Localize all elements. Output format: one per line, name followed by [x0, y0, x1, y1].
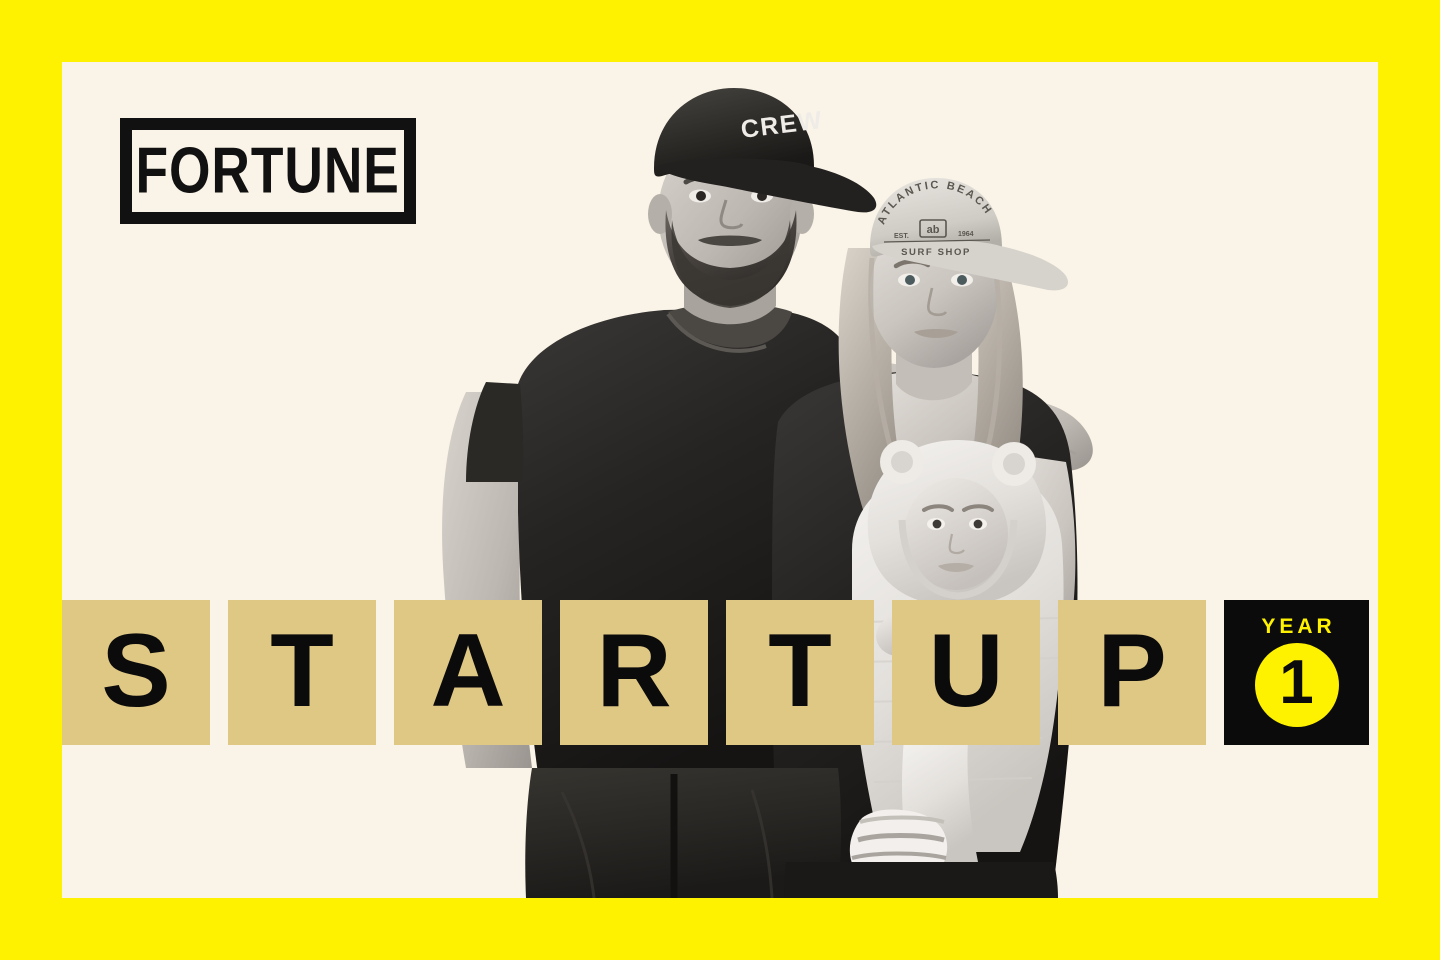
title-tile-a: A [394, 600, 542, 745]
title-tile-u: U [892, 600, 1040, 745]
svg-text:EST.: EST. [894, 233, 909, 240]
fortune-wordmark: FORTUNE [136, 139, 400, 204]
title-tile-t2: T [726, 600, 874, 745]
year-badge: YEAR 1 [1224, 600, 1369, 745]
year-badge-number: 1 [1279, 652, 1313, 714]
year-badge-label: YEAR [1257, 616, 1335, 637]
title-letter: S [101, 619, 170, 723]
startup-title-strip: S T A R T U P YEAR 1 [62, 600, 1378, 745]
title-letter: T [270, 619, 334, 723]
title-tile-p: P [1058, 600, 1206, 745]
title-tile-r: R [560, 600, 708, 745]
year-badge-circle: 1 [1255, 643, 1339, 727]
title-letter: A [430, 619, 505, 723]
cover-canvas: CREW [62, 62, 1378, 898]
title-tile-s: S [62, 600, 210, 745]
svg-text:1964: 1964 [958, 231, 974, 238]
svg-text:ab: ab [927, 224, 940, 236]
svg-text:SURF SHOP: SURF SHOP [901, 247, 971, 258]
title-letter: R [596, 619, 671, 723]
title-letter: P [1097, 619, 1166, 723]
title-letter: T [768, 619, 832, 723]
magazine-cover: CREW [0, 0, 1440, 960]
fortune-logo[interactable]: FORTUNE [120, 118, 416, 224]
title-tile-t1: T [228, 600, 376, 745]
title-letter: U [928, 619, 1003, 723]
